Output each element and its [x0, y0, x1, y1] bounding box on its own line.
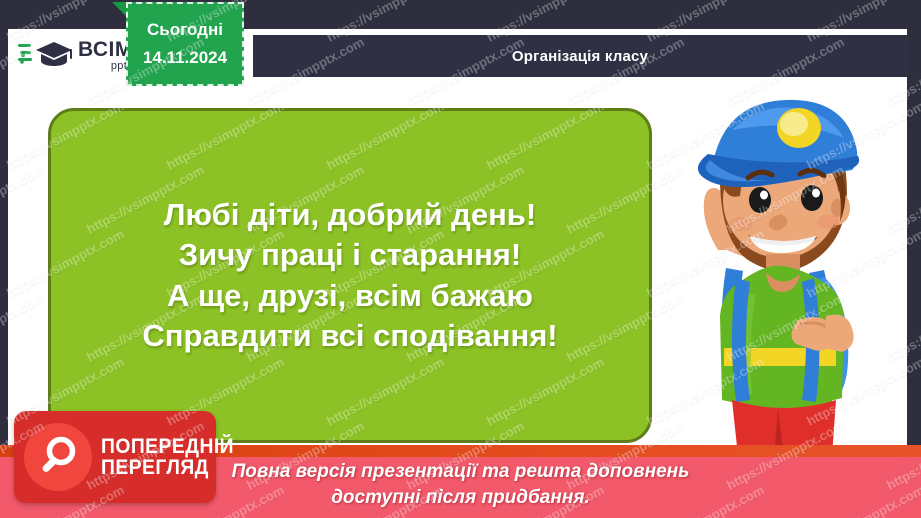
presentation-slide: ВСІМ pptx Сьогодні 14.11.2024 Організаці…	[0, 0, 921, 518]
waving-schoolboy-illustration	[648, 72, 910, 460]
preview-badge-line-1: ПОПЕРЕДНІЙ	[101, 436, 234, 457]
date-badge-value: 14.11.2024	[143, 48, 227, 68]
brand-name: ВСІМ	[78, 39, 133, 60]
date-badge: Сьогодні 14.11.2024	[126, 2, 244, 86]
slide-header-bar: Організація класу	[253, 35, 907, 77]
date-badge-label: Сьогодні	[147, 20, 223, 40]
poem-card: Любі діти, добрий день! Зичу праці і ста…	[48, 108, 652, 443]
brand-suffix: pptx	[78, 61, 133, 72]
preview-badge-line-2: ПЕРЕГЛЯД	[101, 457, 234, 478]
brand-logo-text: ВСІМ pptx	[78, 39, 133, 72]
preview-badge[interactable]: ПОПЕРЕДНІЙ ПЕРЕГЛЯД	[14, 411, 216, 503]
page-title: Організація класу	[512, 48, 648, 65]
magnifier-icon	[24, 423, 92, 491]
preview-badge-text: ПОПЕРЕДНІЙ ПЕРЕГЛЯД	[101, 436, 246, 479]
poem-line: Любі діти, добрий день!	[164, 195, 536, 235]
poem-line: Справдити всі сподівання!	[142, 316, 557, 356]
poem-line: А ще, друзі, всім бажаю	[167, 276, 533, 316]
poem-line: Зичу праці і старання!	[179, 235, 521, 275]
graduation-cap-icon	[18, 38, 76, 72]
